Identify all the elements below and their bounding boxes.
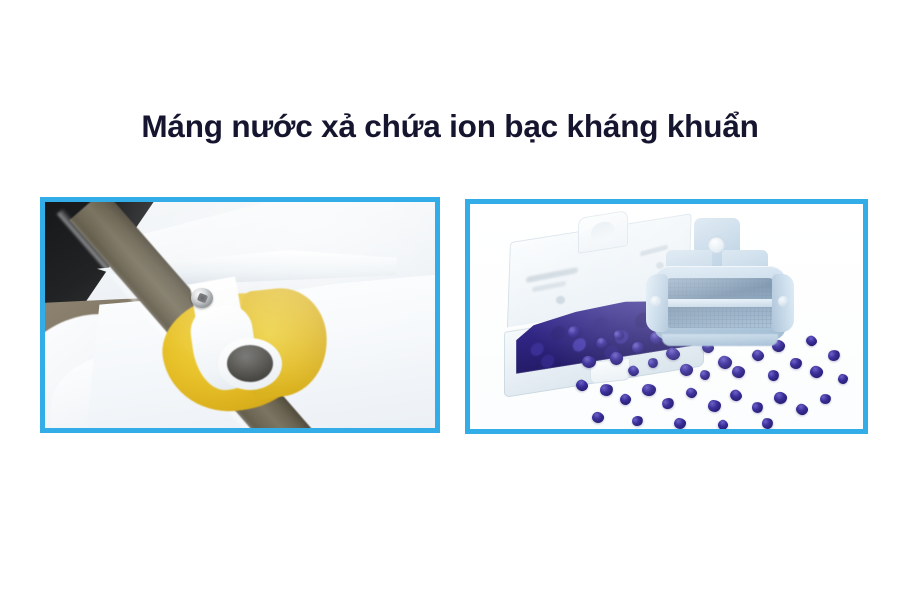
bead bbox=[767, 369, 781, 383]
bead bbox=[804, 334, 818, 348]
bead bbox=[708, 400, 721, 412]
bead bbox=[567, 325, 582, 339]
bead bbox=[626, 364, 641, 378]
bead bbox=[685, 387, 698, 399]
bead bbox=[631, 414, 645, 427]
bead bbox=[827, 348, 842, 362]
bead bbox=[716, 418, 729, 429]
bead bbox=[581, 355, 596, 368]
drain-channel-photo-content bbox=[45, 202, 435, 428]
bead bbox=[594, 336, 608, 350]
bead bbox=[679, 363, 694, 377]
cartridge-base bbox=[662, 334, 778, 346]
page-title: Máng nước xả chứa ion bạc kháng khuẩn bbox=[0, 107, 900, 146]
bead bbox=[647, 357, 660, 370]
drain-hole bbox=[227, 345, 273, 382]
drain-channel-photo bbox=[40, 197, 440, 433]
bead bbox=[591, 411, 605, 424]
bead bbox=[619, 393, 633, 407]
bead bbox=[728, 388, 744, 404]
page-root: Máng nước xả chứa ion bạc kháng khuẩn bbox=[0, 0, 900, 600]
bead bbox=[599, 383, 614, 397]
bead bbox=[750, 348, 765, 363]
bead bbox=[838, 374, 849, 385]
bead bbox=[794, 402, 809, 416]
silver-ion-beads-photo bbox=[465, 199, 868, 434]
cartridge-pin-right bbox=[778, 296, 789, 307]
cartridge-pin-left bbox=[650, 296, 661, 307]
case-lid-marker-dot bbox=[556, 296, 565, 304]
bead bbox=[664, 346, 681, 362]
bead bbox=[761, 417, 774, 429]
bead bbox=[819, 393, 831, 404]
bead bbox=[732, 366, 745, 378]
bead bbox=[631, 341, 644, 354]
cartridge-center-bar bbox=[662, 299, 780, 307]
bead bbox=[790, 358, 803, 370]
bead bbox=[717, 355, 733, 371]
bead bbox=[674, 418, 687, 429]
bead bbox=[751, 401, 764, 414]
bead bbox=[809, 364, 825, 379]
bead bbox=[773, 391, 788, 405]
bead bbox=[609, 351, 625, 367]
bead bbox=[700, 370, 711, 381]
bead bbox=[574, 378, 589, 393]
bead bbox=[642, 384, 656, 396]
bead bbox=[660, 396, 676, 411]
bead bbox=[612, 328, 626, 342]
silver-ion-beads-photo-content bbox=[470, 204, 863, 429]
